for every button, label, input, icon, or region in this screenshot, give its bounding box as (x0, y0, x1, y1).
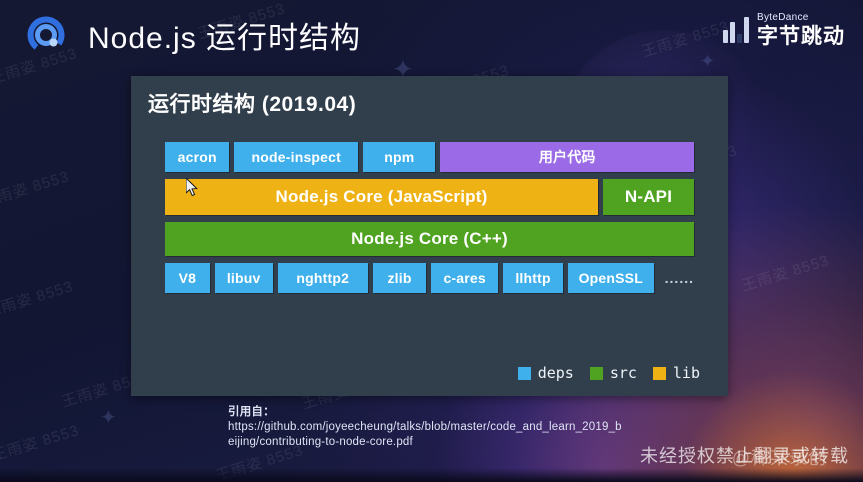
diagram-box[interactable]: npm (363, 142, 435, 172)
legend-label: lib (673, 364, 700, 382)
citation: 引用自： https://github.com/joyeecheung/talk… (228, 405, 628, 450)
diagram-row-javascript-core-layer: Node.js Core (JavaScript)N-API (165, 179, 694, 215)
qq-browser-logo-icon[interactable] (25, 14, 67, 56)
screen-root: ✦ ✦ ✦ 王雨姿 8553 王雨姿 8553 王雨姿 8553 王雨姿 855… (0, 0, 863, 482)
diagram-box[interactable]: Node.js Core (C++) (165, 222, 694, 256)
legend-label: src (610, 364, 637, 382)
citation-url-line-2: eijing/contributing-to-node-core.pdf (228, 435, 628, 450)
watermark-notice: 未经授权禁止翻录或转载 (640, 442, 849, 468)
diagram-row-dependencies-layer: V8libuvnghttp2zlibc-aresllhttpOpenSSL...… (165, 263, 694, 293)
diagram-box[interactable]: libuv (215, 263, 273, 293)
diagram-box[interactable]: OpenSSL (568, 263, 654, 293)
page-title: Node.js 运行时结构 (88, 13, 361, 57)
brand-chinese-label: 字节跳动 (757, 26, 845, 47)
decor-star-2: ✦ (100, 408, 117, 428)
diagram-ellipsis[interactable]: ...... (659, 263, 694, 293)
diagram-box[interactable]: nghttp2 (278, 263, 368, 293)
legend-item: lib (653, 364, 700, 382)
diagram-box[interactable]: node-inspect (234, 142, 358, 172)
diagram-box[interactable]: V8 (165, 263, 210, 293)
citation-heading: 引用自： (228, 405, 628, 420)
brand-english-label: ByteDance (757, 13, 845, 23)
diagram-box[interactable]: Node.js Core (JavaScript) (165, 179, 598, 215)
diagram-row-user-layer: acronnode-inspectnpm用户代码 (165, 142, 694, 172)
diagram-box[interactable]: zlib (373, 263, 426, 293)
diagram-box[interactable]: 用户代码 (440, 142, 694, 172)
bytedance-brand: ByteDance 字节跳动 (723, 13, 845, 47)
mouse-cursor (186, 178, 200, 203)
bytedance-bars-icon (723, 17, 749, 43)
legend-label: deps (538, 364, 574, 382)
legend: depssrclib (518, 364, 700, 382)
legend-swatch-icon (590, 367, 603, 380)
watermark-tile: 王雨姿 8553 (0, 275, 76, 322)
slide-panel: 运行时结构 (2019.04) acronnode-inspectnpm用户代码… (131, 76, 728, 396)
legend-swatch-icon (518, 367, 531, 380)
diagram-box[interactable]: llhttp (503, 263, 563, 293)
diagram-box[interactable]: acron (165, 142, 229, 172)
watermark-tile: 王雨姿 8553 (739, 249, 832, 296)
diagram-box[interactable]: c-ares (431, 263, 498, 293)
slide-title: 运行时结构 (2019.04) (148, 88, 356, 118)
diagram-box[interactable]: N-API (603, 179, 694, 215)
bottom-fade (0, 468, 863, 482)
legend-swatch-icon (653, 367, 666, 380)
citation-url-line-1: https://github.com/joyeecheung/talks/blo… (228, 420, 628, 435)
watermark-tile: 王雨姿 8553 (0, 165, 72, 212)
top-bar: Node.js 运行时结构 ByteDance 字节跳动 (0, 0, 863, 70)
watermark-tile: 王雨姿 8553 (0, 419, 82, 466)
architecture-diagram: acronnode-inspectnpm用户代码Node.js Core (Ja… (165, 142, 694, 300)
diagram-row-cpp-core-layer: Node.js Core (C++) (165, 222, 694, 256)
legend-item: src (590, 364, 637, 382)
legend-item: deps (518, 364, 574, 382)
